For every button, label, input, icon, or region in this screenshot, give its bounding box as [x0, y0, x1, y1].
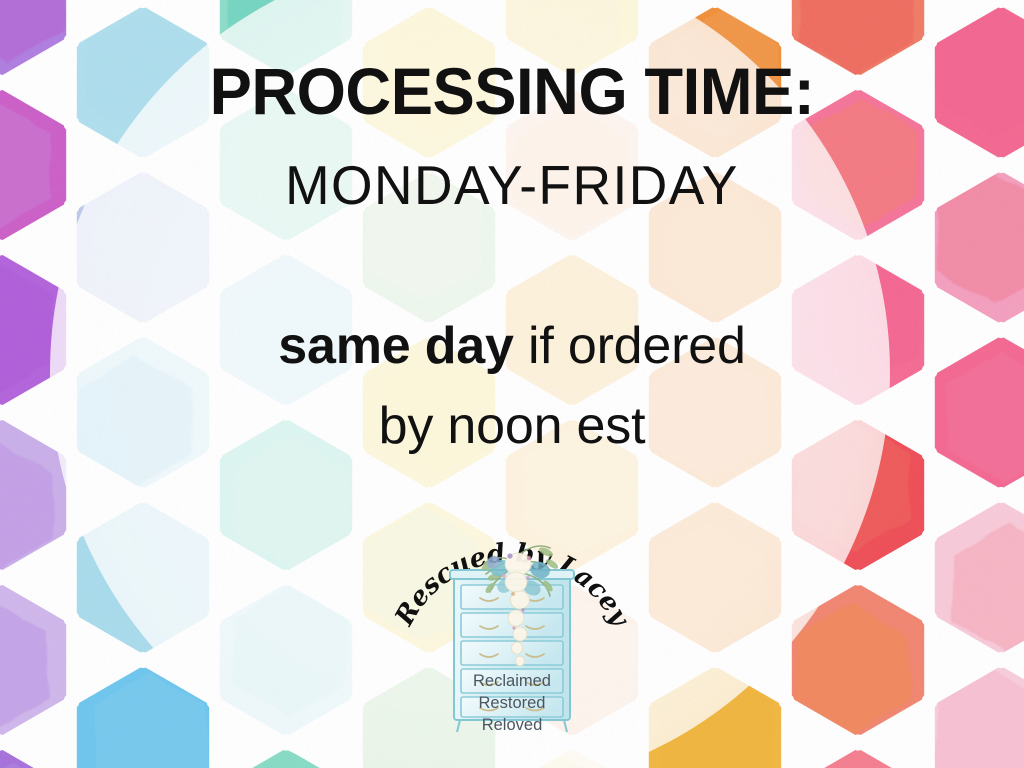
logo-tagline-line-2: Restored — [392, 692, 632, 714]
logo-tagline-line-1: Reclaimed — [392, 670, 632, 692]
logo-tagline: Reclaimed Restored Reloved — [392, 670, 632, 736]
processing-time-banner: PROCESSING TIME: MONDAY-FRIDAY same day … — [0, 0, 1024, 768]
logo-tagline-line-3: Reloved — [392, 714, 632, 736]
brand-logo: Rescued by Lacey — [392, 482, 632, 752]
